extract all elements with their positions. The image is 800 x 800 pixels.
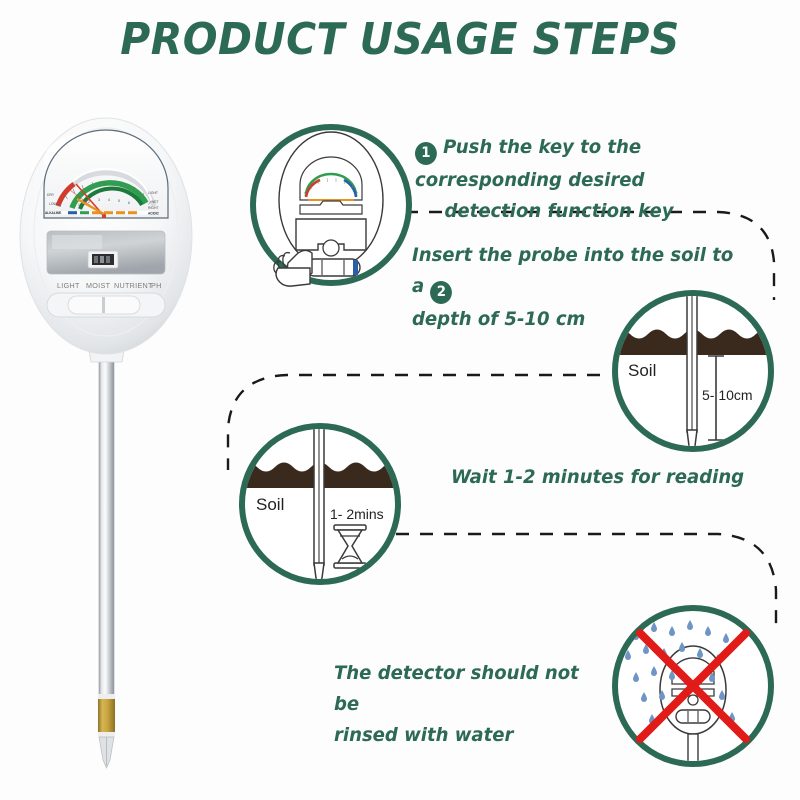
svg-text:1: 1 (78, 203, 80, 207)
svg-text:ALKALINE: ALKALINE (45, 211, 61, 215)
step-2-badge: 2 (430, 281, 452, 304)
step-1-badge: 1 (415, 142, 437, 165)
meter-body (20, 118, 192, 354)
step-1-text-line1: Push the key to the corresponding desire… (415, 136, 644, 191)
svg-text:6: 6 (128, 201, 130, 205)
svg-text:4: 4 (108, 198, 110, 202)
probe-in-soil-hourglass-icon: Soil 1- 2mins (239, 427, 401, 584)
function-slider[interactable] (47, 293, 165, 317)
step-4-text-line2: rinsed with water (334, 724, 513, 746)
step-2-caption: Insert the probe into the soil to a 2 de… (412, 240, 735, 335)
hand-pressing-meter-button-icon (274, 132, 383, 286)
svg-text:PH: PH (151, 281, 162, 290)
svg-text:RIGHT: RIGHT (148, 206, 159, 210)
probe-shaft (88, 345, 125, 768)
svg-text:LOW: LOW (49, 202, 58, 206)
function-labels: LIGHT MOIST NUTRIENT PH (57, 281, 162, 290)
svg-text:5: 5 (118, 199, 120, 203)
step-4-text-line1: The detector should not be (334, 662, 579, 715)
step-3-caption: Wait 1-2 minutes for reading (451, 462, 765, 493)
step-3-soil-label: Soil (256, 495, 284, 514)
svg-text:NUTRIENT: NUTRIENT (114, 281, 153, 290)
step-1-text-line2: detection function key (444, 196, 673, 227)
infographic-canvas: PRODUCT USAGE STEPS (0, 0, 800, 800)
svg-text:DRY: DRY (47, 193, 55, 197)
step-4-caption: The detector should not be rinsed with w… (334, 658, 591, 751)
step-1-caption: 1 Push the key to the corresponding desi… (415, 132, 738, 227)
svg-text:MOIST: MOIST (86, 281, 111, 290)
svg-text:WET: WET (151, 200, 159, 204)
analog-gauge: 12 34 56 DRY LOW ALKALINE LIGHT WET RIGH… (44, 130, 168, 218)
step-2-soil-label: Soil (628, 361, 656, 380)
svg-text:LIGHT: LIGHT (148, 191, 158, 195)
page-title: PRODUCT USAGE STEPS (28, 14, 772, 65)
svg-text:2: 2 (88, 200, 90, 204)
meter-screen (47, 231, 165, 274)
step-3-duration-label: 1- 2mins (330, 506, 384, 522)
step-3-text-line1: Wait 1-2 minutes for reading (451, 466, 744, 488)
svg-text:LIGHT: LIGHT (57, 281, 80, 290)
step-2-text-line1: Insert the probe into the soil to a (412, 244, 733, 297)
step-2-text-line2: depth of 5-10 cm (412, 308, 585, 330)
no-water-rinse-icon (625, 620, 746, 766)
svg-text:3: 3 (98, 198, 100, 202)
svg-text:ACIDIC: ACIDIC (148, 212, 160, 216)
step-2-depth-label: 5- 10cm (702, 387, 753, 403)
